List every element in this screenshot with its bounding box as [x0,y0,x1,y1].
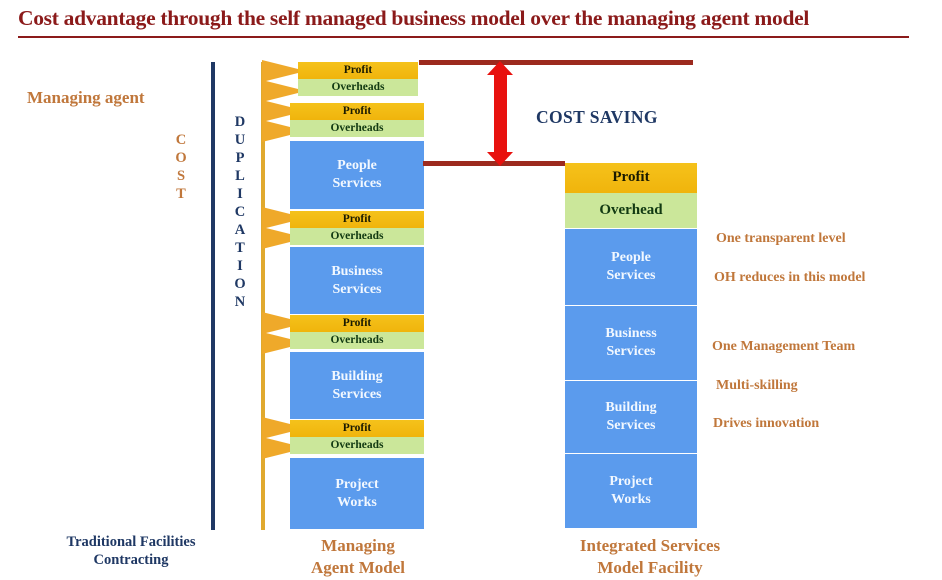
diagram-canvas: Cost advantage through the self managed … [0,0,942,580]
duplication-axis-label: DUPLICATION [232,114,248,312]
managing-agent-model-caption: Managing Agent Model [283,535,433,578]
block-label-line: Works [337,494,377,512]
axis-letter: I [232,186,248,204]
block-label-line: Services [333,386,382,404]
benefit-note: Drives innovation [713,416,819,432]
left-block-profit: Profit [290,315,424,332]
caption-line-2: Model Facility [597,558,702,577]
block-label-line: Services [607,417,656,435]
block-label-line: Building [605,399,656,417]
right-block-profit: Profit [565,163,697,193]
block-label: Overhead [599,201,662,220]
right-block-building-services: BuildingServices [565,380,697,453]
axis-letter: O [232,276,248,294]
block-label-line: Services [333,281,382,299]
left-block-overheads: Overheads [298,79,418,96]
block-label-line: Works [611,491,651,509]
axis-letter: I [232,258,248,276]
title-underline [18,36,909,38]
axis-letter: T [173,186,189,204]
benefit-note: One transparent level [716,231,846,247]
benefit-note: One Management Team [712,339,855,355]
caption-line-2: Agent Model [311,558,405,577]
axis-letter: C [232,204,248,222]
block-label-line: Business [605,325,656,343]
block-label: Profit [343,421,372,436]
arrow-down-icon [487,152,513,166]
block-label-line: Services [607,343,656,361]
block-label-line: People [611,249,651,267]
axis-letter: C [173,132,189,150]
left-block-profit: Profit [290,420,424,437]
managing-agent-label: Managing agent [27,88,145,108]
cost-axis-label: COST [173,132,189,204]
left-block-project-works: ProjectWorks [290,457,424,529]
block-label: Overheads [330,121,383,136]
traditional-facilities-caption: Traditional Facilities Contracting [31,533,231,570]
block-label: Profit [343,104,372,119]
axis-letter: U [232,132,248,150]
block-label: Overheads [331,80,384,95]
left-block-business-services: BusinessServices [290,246,424,314]
left-block-profit: Profit [290,211,424,228]
caption-line-2: Contracting [94,552,169,568]
axis-letter: P [232,150,248,168]
caption-line-1: Managing [321,536,395,555]
axis-letter: S [173,168,189,186]
axis-letter: N [232,294,248,312]
left-block-building-services: BuildingServices [290,351,424,419]
arrow-up-icon [487,61,513,75]
axis-letter: T [232,240,248,258]
caption-line-1: Integrated Services [580,536,720,555]
page-title: Cost advantage through the self managed … [18,6,918,31]
axis-letter: A [232,222,248,240]
right-block-project-works: ProjectWorks [565,453,697,528]
left-block-overheads: Overheads [290,437,424,454]
block-label: Profit [344,63,373,78]
left-block-people-services: PeopleServices [290,140,424,209]
axis-letter: D [232,114,248,132]
cost-axis-line [211,62,215,530]
block-label: Overheads [330,438,383,453]
cost-saving-arrow-shaft [494,72,507,154]
cost-saving-label: COST SAVING [536,107,658,128]
block-label: Profit [343,316,372,331]
block-label-line: Services [333,175,382,193]
benefit-note: OH reduces in this model [714,270,865,286]
left-block-overheads: Overheads [290,120,424,137]
block-label-line: People [337,157,377,175]
block-label-line: Building [331,368,382,386]
right-block-overhead: Overhead [565,193,697,228]
axis-letter: O [173,150,189,168]
right-block-business-services: BusinessServices [565,305,697,380]
left-block-profit: Profit [290,103,424,120]
block-label-line: Business [331,263,382,281]
caption-line-1: Traditional Facilities [66,534,195,550]
right-block-people-services: PeopleServices [565,228,697,305]
left-block-overheads: Overheads [290,332,424,349]
left-block-overheads: Overheads [290,228,424,245]
left-block-profit: Profit [298,62,418,79]
block-label: Profit [343,212,372,227]
block-label: Overheads [330,333,383,348]
block-label-line: Project [609,473,652,491]
cost-saving-upper-reference-line [419,60,693,65]
block-label-line: Services [607,267,656,285]
block-label: Overheads [330,229,383,244]
axis-letter: L [232,168,248,186]
block-label-line: Project [335,476,378,494]
benefit-note: Multi-skilling [716,378,798,394]
block-label: Profit [612,168,649,187]
integrated-services-model-caption: Integrated Services Model Facility [530,535,770,578]
